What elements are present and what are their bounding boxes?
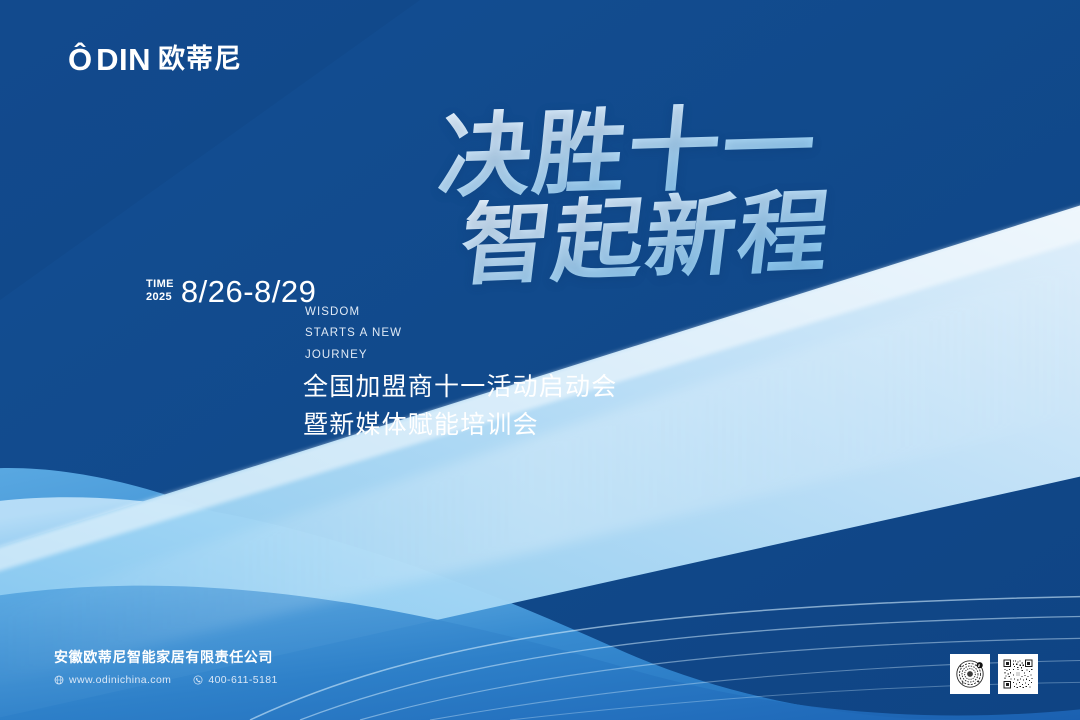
event-date-range: 8/26-8/29 xyxy=(181,276,317,307)
douyin-circular-code[interactable] xyxy=(950,654,990,694)
event-poster: Ô DIN 欧蒂尼 决胜十一 智起新程 TIME 2025 8/26-8/29 … xyxy=(0,0,1080,720)
subtitle-line-1: 全国加盟商十一活动启动会 xyxy=(303,368,617,406)
logo-o-mark: Ô xyxy=(68,44,92,75)
time-label-top: TIME xyxy=(146,278,174,290)
phone-icon xyxy=(193,675,203,685)
contact-row: www.odinichina.com 400-611-5181 xyxy=(54,674,278,686)
website-text: www.odinichina.com xyxy=(69,674,171,686)
douyin-circular-code-graphic xyxy=(953,657,987,691)
logo-latin-text: DIN xyxy=(96,44,151,75)
tagline-line-3: JOURNEY xyxy=(305,345,402,366)
event-date-block: TIME 2025 8/26-8/29 xyxy=(146,276,316,307)
headline-calligraphy: 决胜十一 智起新程 xyxy=(440,104,910,284)
brand-logo: Ô DIN 欧蒂尼 xyxy=(68,44,242,75)
code-tiles xyxy=(950,654,1038,694)
tagline-line-2: STARTS A NEW xyxy=(305,323,402,344)
time-label: TIME 2025 xyxy=(146,278,174,307)
english-tagline: WISDOM STARTS A NEW JOURNEY xyxy=(305,302,402,366)
logo-chinese-text: 欧蒂尼 xyxy=(158,46,242,73)
event-subtitle: 全国加盟商十一活动启动会 暨新媒体赋能培训会 xyxy=(303,368,617,444)
time-label-year: 2025 xyxy=(146,291,174,303)
tagline-line-1: WISDOM xyxy=(305,302,402,323)
company-name: 安徽欧蒂尼智能家居有限责任公司 xyxy=(54,649,278,667)
phone-text: 400-611-5181 xyxy=(208,674,277,686)
subtitle-line-2: 暨新媒体赋能培训会 xyxy=(303,406,617,444)
phone-item: 400-611-5181 xyxy=(193,674,277,686)
wechat-qr-code-graphic xyxy=(1001,657,1035,691)
website-item: www.odinichina.com xyxy=(54,674,171,686)
wechat-qr-code[interactable] xyxy=(998,654,1038,694)
headline-line-2: 智起新程 xyxy=(455,183,916,292)
globe-icon xyxy=(54,675,64,685)
footer-block: 安徽欧蒂尼智能家居有限责任公司 www.odinichina.com 400-6… xyxy=(54,649,278,686)
